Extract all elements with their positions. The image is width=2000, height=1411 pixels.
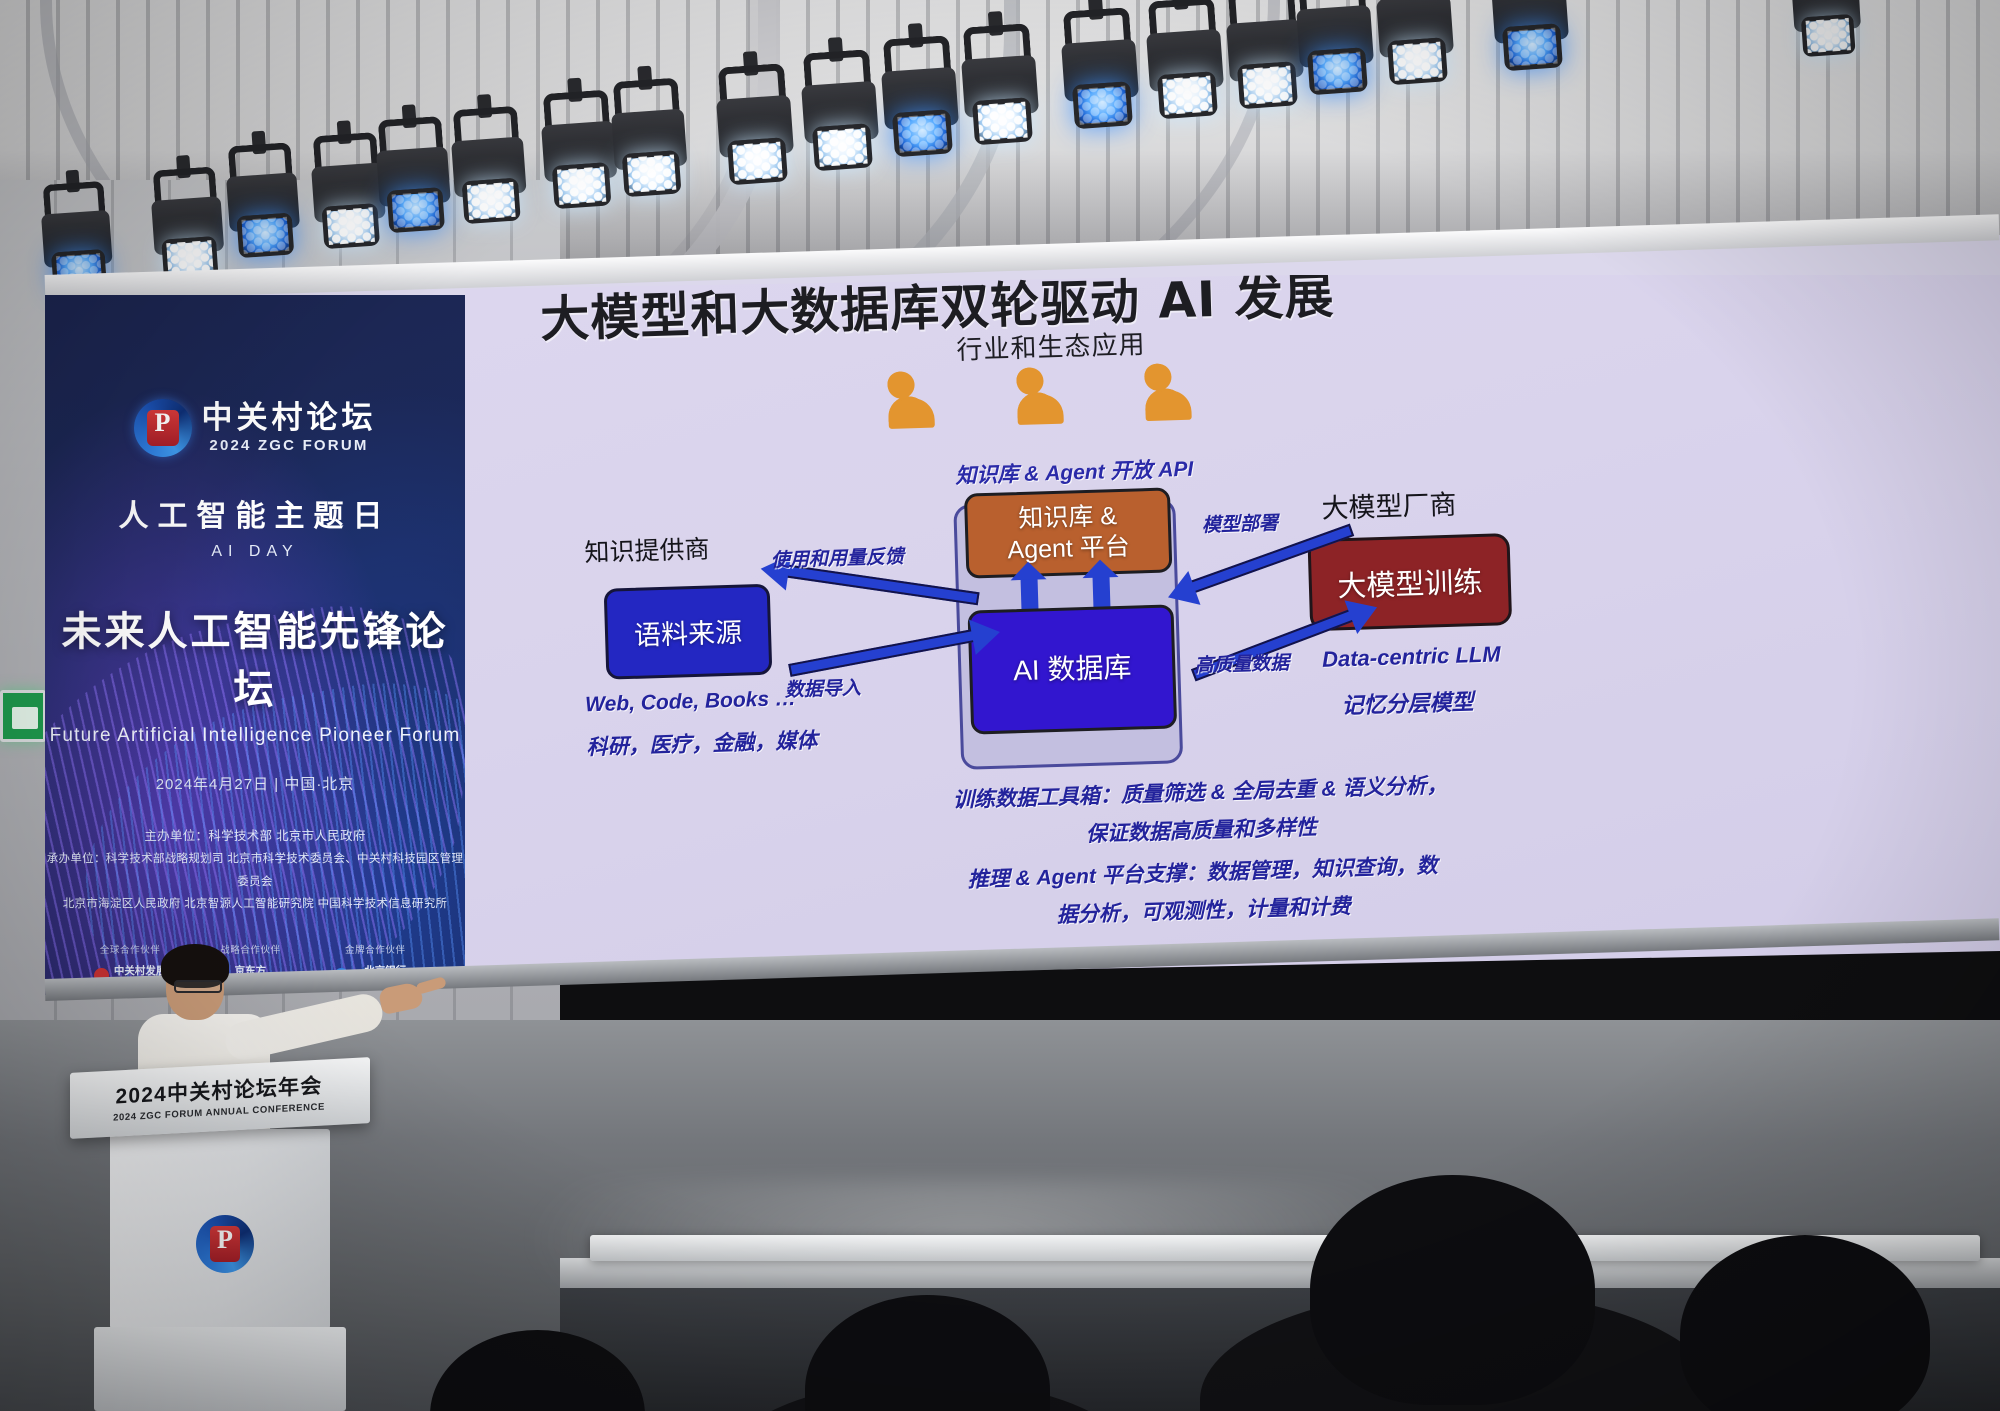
lectern-nameplate: 2024中关村论坛年会 2024 ZGC FORUM ANNUAL CONFER… [70,1057,370,1139]
poster-forum-title-en: Future Artificial Intelligence Pioneer F… [45,725,465,747]
memory-layered-model-label: 记忆分层模型 [1341,684,1474,720]
led-screen: 中关村论坛 2024 ZGC FORUM 人工智能主题日 AI DAY 未来人工… [45,235,2000,995]
slide-title: 大模型和大数据库双轮驱动 AI 发展 [539,275,1335,352]
lectern-base [94,1327,346,1411]
arrow-label-high-quality-data: 高质量数据 [1194,648,1290,678]
arrow-data-import [788,629,977,677]
ecosystem-users-icons [887,362,1229,450]
speaker-glasses [174,980,222,993]
presentation-slide: 大模型和大数据库双轮驱动 AI 发展 行业和生态应用 [465,275,2000,995]
poster-date-location: 2024年4月27日 | 中国·北京 [45,773,465,794]
ecosystem-label: 行业和生态应用 [956,324,1146,367]
speaker-arm [222,990,386,1063]
corpus-source-box: 语料来源 [604,584,773,680]
audience-head [1310,1175,1595,1405]
conference-stage-photo: 中关村论坛 2024 ZGC FORUM 人工智能主题日 AI DAY 未来人工… [0,0,2000,1411]
organizer-line: 主办单位：科学技术部 北京市人民政府 [45,824,465,848]
logo-text-cn: 中关村论坛 [202,402,377,433]
knowledge-provider-label: 知识提供商 [584,530,710,570]
ai-database-box: AI 数据库 [967,604,1177,734]
open-api-label: 知识库 & Agent 开放 API [955,453,1194,490]
corpus-examples-cn: 科研，医疗，金融，媒体 [586,724,818,761]
zgc-logo-icon [134,399,192,457]
people-group-icon [1016,366,1101,438]
event-poster-panel: 中关村论坛 2024 ZGC FORUM 人工智能主题日 AI DAY 未来人工… [45,295,465,995]
logo-text-en: 2024 ZGC FORUM [202,437,377,454]
poster-theme-en: AI DAY [45,543,465,561]
llm-vendor-label: 大模型厂商 [1321,483,1457,526]
zgc-emblem-icon [196,1215,254,1273]
organizer-line: 承办单位：科学技术部战略规划司 北京市科学技术委员会、中关村科技园区管理委员会 [45,848,465,893]
knowledge-agent-platform-box: 知识库 & Agent 平台 [964,487,1172,578]
exit-sign [0,690,46,742]
poster-theme-cn: 人工智能主题日 [45,491,465,535]
lectern: 2024中关村论坛年会 2024 ZGC FORUM ANNUAL CONFER… [88,1065,356,1411]
people-group-icon [887,369,972,441]
arrow-label-model-deploy: 模型部署 [1202,508,1279,537]
data-centric-llm-label: Data-centric LLM [1322,641,1501,672]
people-group-icon [1144,362,1229,434]
poster-forum-title-cn: 未来人工智能先锋论坛 [45,599,465,715]
organizer-line: 北京市海淀区人民政府 北京智源人工智能研究院 中国科学技术信息研究所 [45,893,465,915]
corpus-examples-en: Web, Code, Books … [585,687,796,717]
arrow-label-usage-feedback: 使用和用量反馈 [770,542,904,573]
poster-organizers: 主办单位：科学技术部 北京市人民政府 承办单位：科学技术部战略规划司 北京市科学… [45,824,465,916]
zgc-forum-logo: 中关村论坛 2024 ZGC FORUM [45,399,465,457]
arrow-label-data-import: 数据导入 [784,673,861,702]
